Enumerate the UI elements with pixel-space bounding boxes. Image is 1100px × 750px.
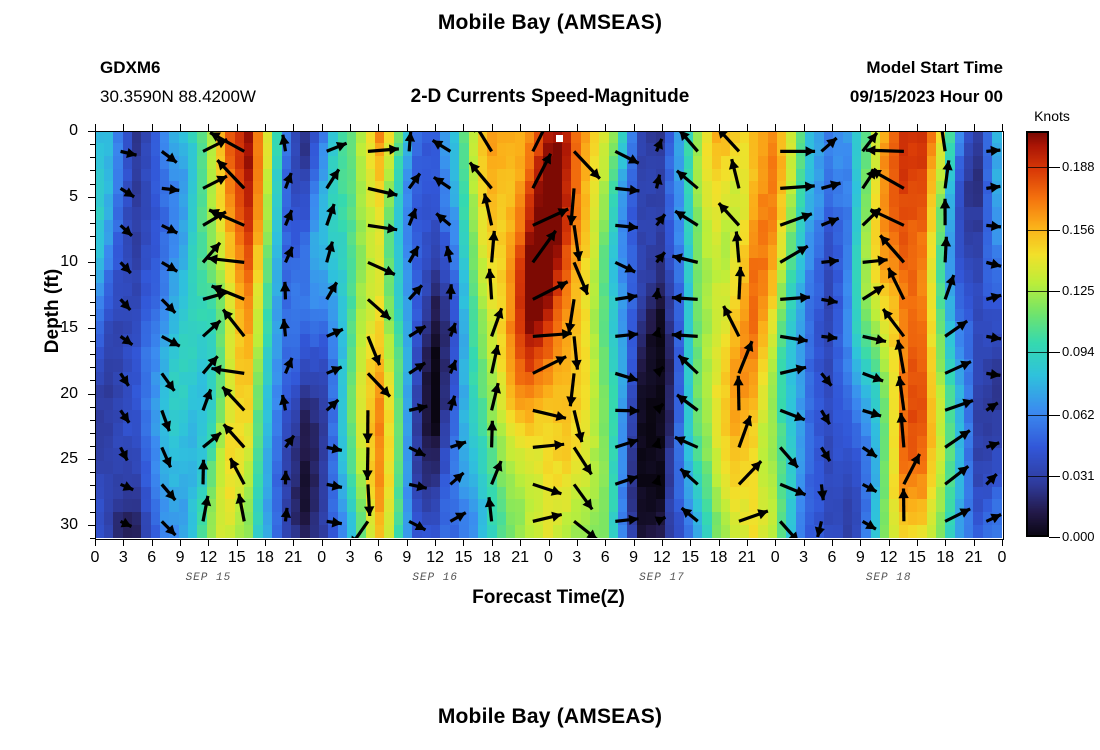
x-axis-tick-label: 0 bbox=[760, 549, 790, 567]
x-axis-tick-top bbox=[180, 124, 181, 131]
y-axis-minor-tick bbox=[90, 157, 95, 158]
x-axis-tick-label: 0 bbox=[534, 549, 564, 567]
x-axis-tick-top bbox=[634, 124, 635, 131]
x-axis-tick bbox=[208, 539, 209, 546]
y-axis-minor-tick bbox=[90, 249, 95, 250]
x-axis-tick-top bbox=[265, 124, 266, 131]
y-axis-minor-tick bbox=[90, 472, 95, 473]
x-axis-tick-top bbox=[152, 124, 153, 131]
x-axis-tick-label: 18 bbox=[477, 549, 507, 567]
colorbar-tick-inner bbox=[1028, 167, 1049, 168]
y-axis-minor-tick bbox=[90, 236, 95, 237]
x-axis-tick-label: 3 bbox=[789, 549, 819, 567]
x-axis-tick-top bbox=[208, 124, 209, 131]
x-axis-tick-top bbox=[577, 124, 578, 131]
x-axis-day-label: SEP 15 bbox=[163, 572, 253, 584]
x-axis-tick-label: 12 bbox=[193, 549, 223, 567]
x-axis-tick-label: 3 bbox=[108, 549, 138, 567]
x-axis-tick bbox=[463, 539, 464, 546]
x-axis-tick bbox=[123, 539, 124, 546]
x-axis-tick-top bbox=[322, 124, 323, 131]
y-axis-tick bbox=[88, 197, 95, 198]
x-axis-tick bbox=[747, 539, 748, 546]
x-axis-tick-top bbox=[832, 124, 833, 131]
y-axis-tick bbox=[88, 394, 95, 395]
model-start-time-label: Model Start Time bbox=[866, 58, 1003, 78]
y-axis-tick-label: 15 bbox=[38, 319, 78, 337]
x-axis-tick bbox=[775, 539, 776, 546]
x-axis-tick-top bbox=[95, 124, 96, 131]
y-axis-tick bbox=[88, 131, 95, 132]
x-axis-tick-label: 6 bbox=[363, 549, 393, 567]
y-axis-tick-label: 30 bbox=[38, 516, 78, 534]
y-axis-minor-tick bbox=[90, 499, 95, 500]
x-axis-tick-label: 9 bbox=[845, 549, 875, 567]
x-axis-tick-label: 12 bbox=[874, 549, 904, 567]
x-axis-tick bbox=[719, 539, 720, 546]
x-axis-tick-top bbox=[889, 124, 890, 131]
y-axis-minor-tick bbox=[90, 275, 95, 276]
y-axis-minor-tick bbox=[90, 446, 95, 447]
x-axis-tick-label: 15 bbox=[675, 549, 705, 567]
y-axis-minor-tick bbox=[90, 367, 95, 368]
x-axis-tick bbox=[917, 539, 918, 546]
x-axis-tick bbox=[945, 539, 946, 546]
colorbar-tick-label: 0.000 bbox=[1062, 529, 1100, 544]
x-axis-tick-top bbox=[293, 124, 294, 131]
x-axis-tick-top bbox=[1002, 124, 1003, 131]
x-axis-tick bbox=[435, 539, 436, 546]
x-axis-tick-label: 12 bbox=[647, 549, 677, 567]
y-axis-minor-tick bbox=[90, 184, 95, 185]
colorbar-tick bbox=[1049, 537, 1060, 538]
colorbar-tick-label: 0.062 bbox=[1062, 407, 1100, 422]
x-axis-tick-label: 15 bbox=[902, 549, 932, 567]
x-axis-tick-label: 0 bbox=[987, 549, 1017, 567]
x-axis-tick bbox=[180, 539, 181, 546]
colorbar-tick-label: 0.156 bbox=[1062, 222, 1100, 237]
y-axis-minor-tick bbox=[90, 420, 95, 421]
colorbar-title: Knots bbox=[1012, 108, 1092, 124]
y-axis-minor-tick bbox=[90, 485, 95, 486]
x-axis-tick-top bbox=[463, 124, 464, 131]
x-axis-tick-top bbox=[520, 124, 521, 131]
x-axis-tick bbox=[832, 539, 833, 546]
colorbar-tick bbox=[1049, 167, 1060, 168]
x-axis-tick-top bbox=[719, 124, 720, 131]
colorbar-tick-label: 0.031 bbox=[1062, 468, 1100, 483]
y-axis-tick bbox=[88, 525, 95, 526]
y-axis-tick-label: 10 bbox=[38, 253, 78, 271]
x-axis-tick bbox=[577, 539, 578, 546]
colorbar-tick-label: 0.094 bbox=[1062, 344, 1100, 359]
colorbar-tick-inner bbox=[1028, 476, 1049, 477]
x-axis-tick bbox=[804, 539, 805, 546]
x-axis-tick-top bbox=[662, 124, 663, 131]
y-axis-minor-tick bbox=[90, 144, 95, 145]
x-axis-tick-label: 18 bbox=[704, 549, 734, 567]
y-axis-minor-tick bbox=[90, 289, 95, 290]
y-axis-tick bbox=[88, 262, 95, 263]
x-axis-day-label: SEP 16 bbox=[390, 572, 480, 584]
x-axis-tick-top bbox=[435, 124, 436, 131]
x-axis-tick-top bbox=[690, 124, 691, 131]
x-axis-tick-top bbox=[605, 124, 606, 131]
x-axis-tick-label: 9 bbox=[392, 549, 422, 567]
x-axis-tick bbox=[1002, 539, 1003, 546]
x-axis-tick-top bbox=[974, 124, 975, 131]
colorbar-tick bbox=[1049, 291, 1060, 292]
x-axis-tick-label: 9 bbox=[619, 549, 649, 567]
bottom-title: Mobile Bay (AMSEAS) bbox=[0, 705, 1100, 729]
x-axis-tick bbox=[95, 539, 96, 546]
x-axis-tick bbox=[605, 539, 606, 546]
y-axis-minor-tick bbox=[90, 433, 95, 434]
x-axis-tick-label: 9 bbox=[165, 549, 195, 567]
y-axis-minor-tick bbox=[90, 315, 95, 316]
x-axis-tick-label: 15 bbox=[222, 549, 252, 567]
x-axis-tick-label: 15 bbox=[448, 549, 478, 567]
currents-heatmap bbox=[95, 131, 1002, 538]
colorbar-tick-inner bbox=[1028, 415, 1049, 416]
x-axis-tick-top bbox=[378, 124, 379, 131]
x-axis-tick bbox=[407, 539, 408, 546]
x-axis-tick bbox=[889, 539, 890, 546]
y-axis-minor-tick bbox=[90, 512, 95, 513]
x-axis-tick-label: 21 bbox=[732, 549, 762, 567]
x-axis-day-label: SEP 18 bbox=[844, 572, 934, 584]
colorbar-tick bbox=[1049, 230, 1060, 231]
colorbar-tick bbox=[1049, 415, 1060, 416]
x-axis-tick bbox=[860, 539, 861, 546]
x-axis-tick-label: 18 bbox=[930, 549, 960, 567]
x-axis-tick-top bbox=[492, 124, 493, 131]
x-axis-tick-top bbox=[350, 124, 351, 131]
x-axis-tick-label: 0 bbox=[307, 549, 337, 567]
x-axis-tick-label: 3 bbox=[562, 549, 592, 567]
x-axis-tick-top bbox=[860, 124, 861, 131]
x-axis-tick bbox=[378, 539, 379, 546]
x-axis-tick-top bbox=[917, 124, 918, 131]
colorbar-tick-inner bbox=[1028, 352, 1049, 353]
colorbar-tick-inner bbox=[1028, 230, 1049, 231]
x-axis-tick bbox=[634, 539, 635, 546]
x-axis-tick-label: 12 bbox=[420, 549, 450, 567]
x-axis-tick-label: 21 bbox=[505, 549, 535, 567]
x-axis-tick-top bbox=[804, 124, 805, 131]
x-axis-tick bbox=[350, 539, 351, 546]
x-axis-tick-label: 3 bbox=[335, 549, 365, 567]
x-axis-title: Forecast Time(Z) bbox=[95, 587, 1002, 609]
y-axis-minor-tick bbox=[90, 302, 95, 303]
y-axis-tick-label: 0 bbox=[38, 122, 78, 140]
x-axis-tick bbox=[322, 539, 323, 546]
x-axis-tick bbox=[265, 539, 266, 546]
y-axis-tick-label: 5 bbox=[38, 188, 78, 206]
x-axis-tick-top bbox=[237, 124, 238, 131]
page-title: Mobile Bay (AMSEAS) bbox=[0, 11, 1100, 35]
x-axis-tick-top bbox=[775, 124, 776, 131]
colorbar-tick bbox=[1049, 352, 1060, 353]
colorbar-tick-label: 0.125 bbox=[1062, 283, 1100, 298]
y-axis-minor-tick bbox=[90, 223, 95, 224]
x-axis-tick-top bbox=[123, 124, 124, 131]
x-axis-tick bbox=[237, 539, 238, 546]
y-axis-minor-tick bbox=[90, 170, 95, 171]
x-axis-tick-label: 0 bbox=[80, 549, 110, 567]
colorbar-tick bbox=[1049, 476, 1060, 477]
x-axis-tick-label: 21 bbox=[278, 549, 308, 567]
y-axis-minor-tick bbox=[90, 407, 95, 408]
model-start-time-value: 09/15/2023 Hour 00 bbox=[850, 87, 1003, 107]
colorbar-tick-label: 0.188 bbox=[1062, 159, 1100, 174]
chart-figure: Mobile Bay (AMSEAS) GDXM6 30.3590N 88.42… bbox=[0, 0, 1100, 750]
y-axis-minor-tick bbox=[90, 380, 95, 381]
y-axis-tick-label: 20 bbox=[38, 385, 78, 403]
y-axis-tick bbox=[88, 459, 95, 460]
y-axis-minor-tick bbox=[90, 354, 95, 355]
x-axis-day-label: SEP 17 bbox=[617, 572, 707, 584]
x-axis-tick-label: 6 bbox=[137, 549, 167, 567]
x-axis-tick-label: 6 bbox=[817, 549, 847, 567]
y-axis-minor-tick bbox=[90, 210, 95, 211]
y-axis-minor-tick bbox=[90, 341, 95, 342]
x-axis-tick bbox=[549, 539, 550, 546]
x-axis-tick bbox=[293, 539, 294, 546]
x-axis-tick bbox=[974, 539, 975, 546]
x-axis-tick-top bbox=[945, 124, 946, 131]
colorbar-tick-inner bbox=[1028, 291, 1049, 292]
x-axis-tick bbox=[520, 539, 521, 546]
x-axis-tick bbox=[152, 539, 153, 546]
x-axis-tick-top bbox=[407, 124, 408, 131]
x-axis-tick-label: 6 bbox=[590, 549, 620, 567]
x-axis-tick bbox=[662, 539, 663, 546]
x-axis-tick-top bbox=[549, 124, 550, 131]
x-axis-tick-top bbox=[747, 124, 748, 131]
x-axis-tick-label: 18 bbox=[250, 549, 280, 567]
y-axis-tick-label: 25 bbox=[38, 450, 78, 468]
x-axis-tick bbox=[690, 539, 691, 546]
x-axis-tick bbox=[492, 539, 493, 546]
x-axis-tick-label: 21 bbox=[959, 549, 989, 567]
station-id: GDXM6 bbox=[100, 58, 160, 78]
y-axis-tick bbox=[88, 328, 95, 329]
